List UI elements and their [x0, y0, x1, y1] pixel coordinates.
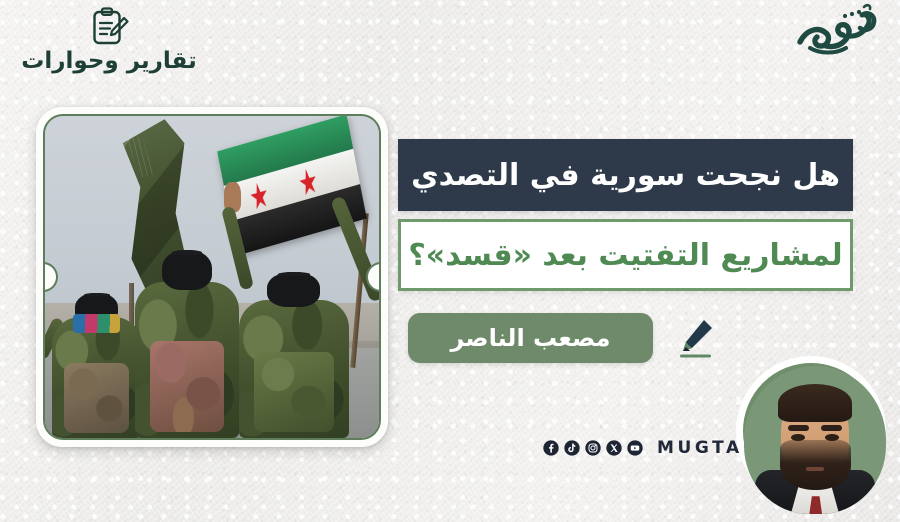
youtube-icon[interactable]	[627, 440, 643, 456]
soldier-figure	[135, 238, 239, 438]
portrait-mouth	[806, 467, 823, 471]
soldier-vest	[64, 363, 129, 433]
portrait-beard	[780, 440, 851, 490]
headline-line-1: هل نجحت سورية في التصدي	[398, 139, 853, 211]
soldier-scarf	[73, 314, 120, 333]
portrait-eyebrow	[788, 425, 809, 431]
tiktok-icon[interactable]	[564, 440, 580, 456]
portrait-photo	[744, 366, 886, 514]
pen-icon	[672, 316, 716, 362]
article-photo	[43, 114, 381, 440]
portrait-hair	[778, 384, 852, 422]
instagram-icon[interactable]	[585, 440, 601, 456]
category-label: تقارير وحوارات	[14, 50, 204, 73]
portrait-eyebrow	[821, 425, 842, 431]
headline-line-2: لمشاريع التفتيت بعد «قسد»؟	[398, 219, 853, 291]
article-card: تقارير وحوارات	[0, 0, 900, 522]
soldier-body	[52, 317, 142, 438]
soldier-vest	[254, 352, 333, 432]
mugtama-logo	[790, 2, 882, 64]
soldier-cap	[172, 250, 202, 255]
headline-line-1-text: هل نجحت سورية في التصدي	[411, 158, 840, 193]
clipboard-pen-icon	[89, 6, 129, 48]
x-icon[interactable]	[606, 440, 622, 456]
category-tag: تقارير وحوارات	[14, 6, 204, 73]
author-name-pill: مصعب الناصر	[408, 313, 653, 363]
soldier-vest	[150, 341, 225, 431]
author-name: مصعب الناصر	[451, 324, 611, 352]
headline-line-2-text: لمشاريع التفتيت بعد «قسد»؟	[408, 238, 842, 273]
soldier-cap	[84, 293, 110, 297]
soldier-body	[135, 282, 239, 438]
article-photo-frame	[36, 107, 388, 447]
soldier-head	[162, 250, 212, 290]
soldier-head	[267, 272, 320, 307]
author-portrait	[722, 342, 898, 522]
facebook-icon[interactable]	[543, 440, 559, 456]
soldier-body	[239, 300, 349, 438]
soldier-figure	[52, 283, 142, 438]
soldier-cap	[278, 272, 310, 276]
soldier-figure	[239, 261, 349, 438]
